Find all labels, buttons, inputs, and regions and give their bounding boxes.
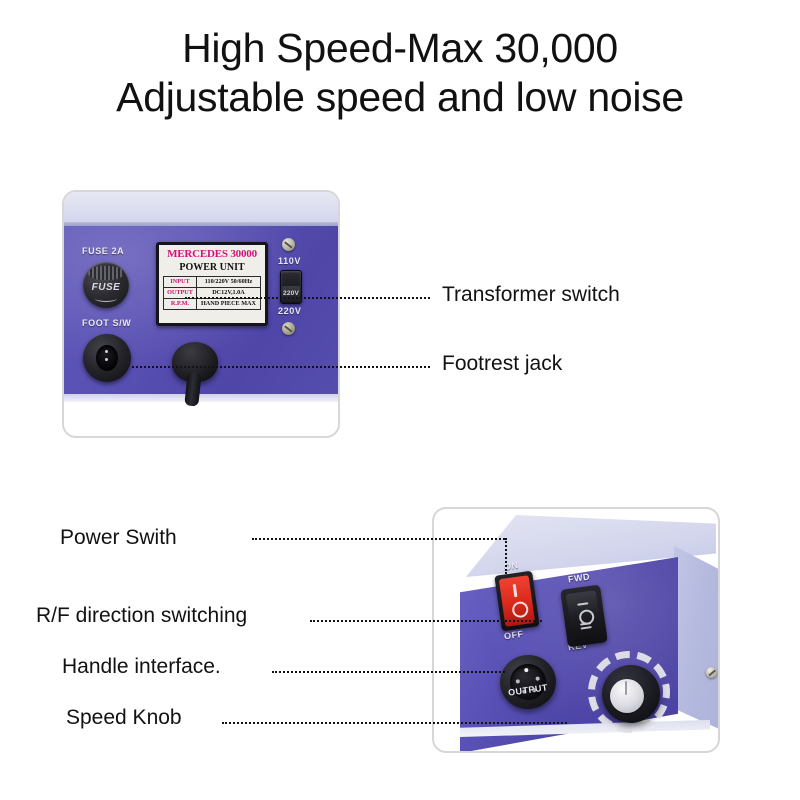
- leader-line-handle-interface: [272, 671, 505, 673]
- voltage-switch-value: 220V: [282, 286, 300, 302]
- bottom-device-card: ON OFF FWD REV OUTPUT: [432, 507, 720, 753]
- spec-key: R.P.M.: [164, 299, 197, 310]
- fuse-knob-text: FUSE: [83, 282, 129, 293]
- table-row: INPUT 110/220V 50/60Hz: [164, 277, 261, 288]
- screw-icon: [706, 667, 717, 678]
- screw-icon: [282, 322, 295, 335]
- device-top-surface: [62, 190, 340, 226]
- leader-line-power-switch: [252, 538, 505, 540]
- device-bottom-edge: [62, 394, 340, 402]
- leader-line-transformer-switch: [185, 297, 430, 299]
- power-unit-front-panel: FUSE 2A FUSE FOOT S/W MERCEDES 30000 POW…: [62, 190, 340, 408]
- screw-icon: [282, 238, 295, 251]
- headline-line-1: High Speed-Max 30,000: [0, 24, 800, 73]
- callout-speed-knob: Speed Knob: [66, 706, 182, 730]
- voltage-110-label: 110V: [278, 256, 301, 266]
- leader-line-power-switch-vertical: [505, 538, 507, 574]
- callout-rf-direction: R/F direction switching: [36, 604, 247, 628]
- jack-pin: [516, 679, 521, 684]
- direction-rocker-face: [566, 590, 602, 642]
- spec-table: INPUT 110/220V 50/60Hz OUTPUT DC12V,1.0A…: [163, 276, 261, 310]
- leader-line-rf-direction: [310, 620, 542, 622]
- device-side-panel: [674, 533, 720, 747]
- foot-switch-jack[interactable]: [83, 334, 131, 382]
- jack-pin: [535, 676, 540, 681]
- spec-brand-text: MERCEDES 30000: [163, 248, 261, 261]
- specification-plate: MERCEDES 30000 POWER UNIT INPUT 110/220V…: [156, 242, 268, 326]
- callout-footrest-jack: Footrest jack: [442, 352, 562, 376]
- foot-switch-label: FOOT S/W: [82, 318, 131, 328]
- fuse-label: FUSE 2A: [82, 246, 124, 256]
- table-row: R.P.M. HAND PIECE MAX: [164, 299, 261, 310]
- spec-subtitle-text: POWER UNIT: [163, 261, 261, 274]
- power-unit-angled-view: ON OFF FWD REV OUTPUT: [460, 515, 720, 753]
- infographic-page: High Speed-Max 30,000 Adjustable speed a…: [0, 0, 800, 800]
- callout-handle-interface: Handle interface.: [62, 655, 221, 679]
- speed-knob-pointer: [610, 679, 644, 713]
- spec-key: INPUT: [164, 277, 197, 288]
- direction-rocker-switch[interactable]: [560, 584, 608, 647]
- callout-transformer-switch: Transformer switch: [442, 283, 620, 307]
- callout-power-switch: Power Swith: [60, 526, 177, 550]
- top-device-card: FUSE 2A FUSE FOOT S/W MERCEDES 30000 POW…: [62, 190, 340, 438]
- jack-pin: [524, 668, 529, 673]
- power-rocker-switch[interactable]: [494, 571, 539, 632]
- speed-control-knob[interactable]: [602, 665, 660, 723]
- page-title: High Speed-Max 30,000 Adjustable speed a…: [0, 24, 800, 122]
- leader-line-footrest-jack: [132, 366, 430, 368]
- headline-line-2: Adjustable speed and low noise: [0, 73, 800, 122]
- spec-value: HAND PIECE MAX: [196, 299, 260, 310]
- spec-value: 110/220V 50/60Hz: [196, 277, 260, 288]
- leader-line-speed-knob: [222, 722, 567, 724]
- fuse-holder-knob[interactable]: FUSE: [83, 262, 129, 308]
- rotate-arrow-icon: [95, 295, 117, 302]
- voltage-220-label: 220V: [278, 306, 301, 316]
